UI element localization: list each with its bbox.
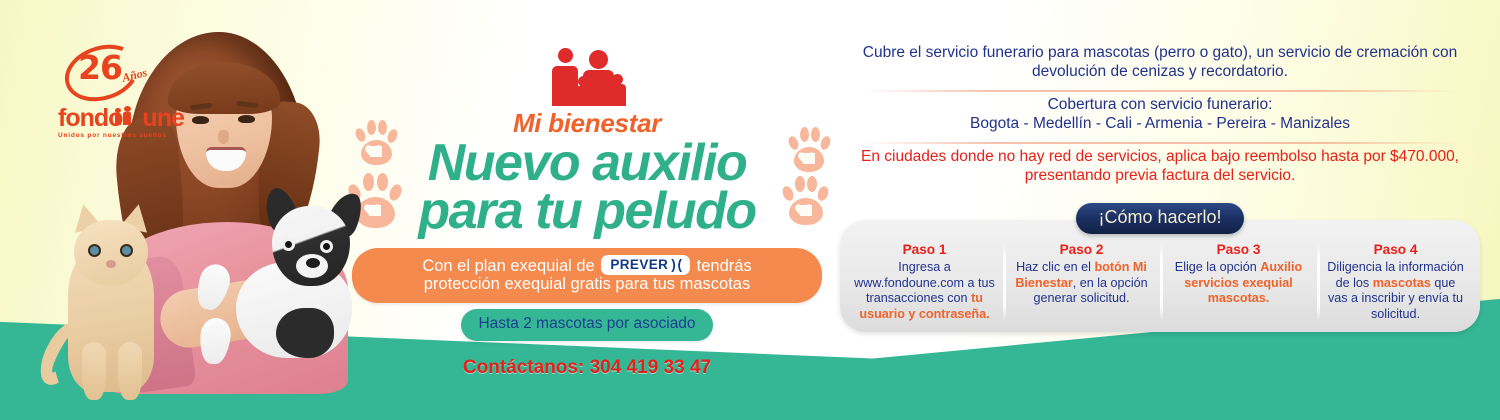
reimbursement-note: En ciudades donde no hay red de servicio… bbox=[840, 142, 1480, 194]
hero-headline: Nuevo auxilio para tu peludo bbox=[352, 140, 822, 236]
promotional-banner: 26 Años fondoune Unidos por nuestros sue… bbox=[0, 0, 1500, 420]
howto-section: ¡Cómo hacerlo! Paso 1 Ingresa a www.fond… bbox=[840, 203, 1480, 332]
anniversary-number: 26 bbox=[78, 48, 122, 87]
cities-list: Bogota - Medellín - Cali - Armenia - Per… bbox=[850, 115, 1470, 134]
cat-eye bbox=[88, 244, 101, 257]
cities-label: Cobertura con servicio funerario: bbox=[850, 96, 1470, 115]
step-card-1: Paso 1 Ingresa a www.fondoune.com a tus … bbox=[846, 242, 1003, 322]
step-text: Elige la opción bbox=[1175, 260, 1260, 274]
hero-headline-line2: para tu peludo bbox=[352, 188, 822, 236]
dog-eye bbox=[320, 240, 333, 253]
woman-eye bbox=[192, 116, 209, 124]
logo-tagline: Unidos por nuestros sueños bbox=[58, 132, 188, 139]
cat-leg bbox=[118, 342, 142, 400]
cat-nose bbox=[106, 260, 116, 268]
prever-logo-badge: PREVER) ( bbox=[601, 255, 690, 275]
cat-leg bbox=[82, 342, 106, 400]
step-card-4: Paso 4 Diligencia la información de los … bbox=[1317, 242, 1474, 322]
plan-text-line2: protección exequial gratis para tus masc… bbox=[366, 275, 808, 293]
cat-head bbox=[74, 220, 148, 286]
logo-wordmark: fondoune bbox=[58, 106, 188, 131]
plan-text-before: Con el plan exequial de bbox=[422, 257, 594, 275]
plan-description-pill: Con el plan exequial de PREVER) ( tendrá… bbox=[352, 248, 822, 303]
woman-nose bbox=[218, 130, 229, 144]
family-icon bbox=[542, 48, 632, 106]
step-title: Paso 1 bbox=[854, 242, 995, 259]
coverage-description: Cubre el servicio funerario para mascota… bbox=[840, 38, 1480, 90]
step-title: Paso 2 bbox=[1011, 242, 1152, 259]
contact-phone[interactable]: Contáctanos: 304 419 33 47 bbox=[352, 357, 822, 379]
logo-family-icon bbox=[114, 108, 134, 125]
step-text: Haz clic en el bbox=[1016, 260, 1094, 274]
woman-eye bbox=[238, 115, 255, 123]
dog-nose bbox=[306, 258, 320, 268]
step-title: Paso 4 bbox=[1325, 242, 1466, 259]
dog-eye bbox=[282, 238, 295, 251]
howto-title: ¡Cómo hacerlo! bbox=[1076, 203, 1243, 234]
step-card-2: Paso 2 Haz clic en el botón Mi Bienestar… bbox=[1003, 242, 1160, 322]
logo-word-part2: une bbox=[142, 104, 183, 132]
cat-eye bbox=[120, 244, 133, 257]
dog-coat-patch bbox=[276, 308, 334, 358]
hero-headline-block: Mi bienestar Nuevo auxilio para tu pelud… bbox=[352, 30, 822, 379]
step-title: Paso 3 bbox=[1168, 242, 1309, 259]
prever-mark: ) ( bbox=[671, 257, 681, 272]
steps-container: Paso 1 Ingresa a www.fondoune.com a tus … bbox=[840, 220, 1480, 332]
anniversary-badge: 26 Años bbox=[58, 44, 166, 104]
fondoune-logo[interactable]: 26 Años fondoune Unidos por nuestros sue… bbox=[58, 44, 188, 139]
step-card-3: Paso 3 Elige la opción Auxilio servicios… bbox=[1160, 242, 1317, 322]
plan-text-after: tendrás bbox=[697, 257, 752, 275]
logo-word-part1: fondo bbox=[58, 104, 122, 132]
info-panel: Cubre el servicio funerario para mascota… bbox=[840, 38, 1480, 332]
prever-label: PREVER bbox=[610, 257, 668, 272]
step-highlight: mascotas bbox=[1373, 276, 1431, 290]
pet-limit-pill: Hasta 2 mascotas por asociado bbox=[461, 309, 713, 341]
coverage-cities: Cobertura con servicio funerario: Bogota… bbox=[840, 90, 1480, 142]
